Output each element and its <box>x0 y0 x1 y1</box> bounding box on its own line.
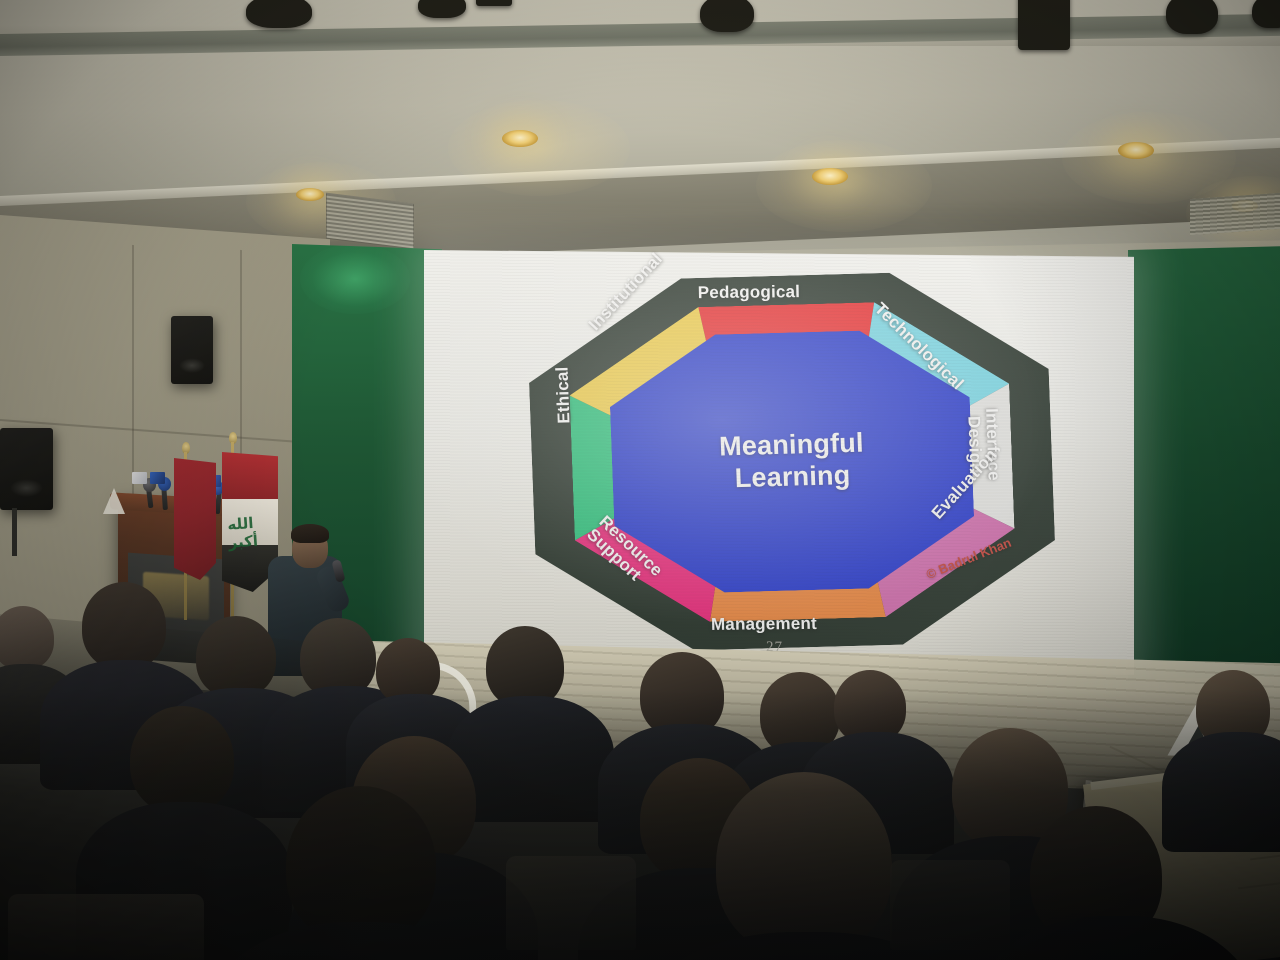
downlight-4 <box>296 188 324 201</box>
auditorium-chair-3 <box>890 860 1010 950</box>
ceiling-fixture-5 <box>1018 0 1070 50</box>
audience-area <box>0 560 1280 960</box>
wall-speaker-lower <box>0 428 53 510</box>
wall-speaker-upper <box>171 316 213 384</box>
downlight-2 <box>812 168 848 185</box>
audience-head-front-2 <box>716 772 892 956</box>
green-panel-highlight <box>300 244 410 314</box>
core-label-line2: Learning <box>734 460 851 493</box>
ceiling-fixture-1 <box>246 0 312 28</box>
podium-side-flaglet <box>103 488 125 514</box>
audience-head-front-1 <box>286 786 436 944</box>
presenter-hair <box>291 524 329 543</box>
audience-head-back-3 <box>196 616 276 698</box>
audience-shoulders-back-10 <box>1162 732 1280 852</box>
auditorium-chair-1 <box>8 894 204 960</box>
label-ethical: Ethical <box>552 366 574 424</box>
downlight-glow-2 <box>756 140 932 232</box>
core-label: Meaningful Learning <box>719 428 866 495</box>
ceiling-fixture-7 <box>1252 0 1280 28</box>
ceiling-fixture-2 <box>418 0 466 18</box>
downlight-glow-1 <box>448 100 630 196</box>
audience-head-back-1 <box>0 606 54 670</box>
label-pedagogical: Pedagogical <box>698 282 801 303</box>
downlight-3 <box>1118 142 1154 159</box>
press-flag-1 <box>132 472 147 484</box>
conference-hall-photo: Meaningful Learning Pedagogical Technolo… <box>0 0 1280 960</box>
ceiling-fixture-3 <box>476 0 512 6</box>
audience-head-mid-1 <box>130 706 234 814</box>
hvac-grille-right <box>1190 193 1280 235</box>
auditorium-chair-2 <box>506 856 636 950</box>
ceiling-fixture-4 <box>700 0 754 32</box>
audience-head-back-2 <box>82 582 166 670</box>
speaker-mount-bracket <box>12 508 17 556</box>
core-label-line1: Meaningful <box>719 428 865 462</box>
iraq-flag-red-band <box>222 452 278 499</box>
ceiling-fixture-6 <box>1166 0 1218 34</box>
downlight-1 <box>502 130 538 147</box>
iraq-flag-takbir-script: الله أكبر <box>227 512 278 551</box>
press-flag-2 <box>150 472 165 484</box>
